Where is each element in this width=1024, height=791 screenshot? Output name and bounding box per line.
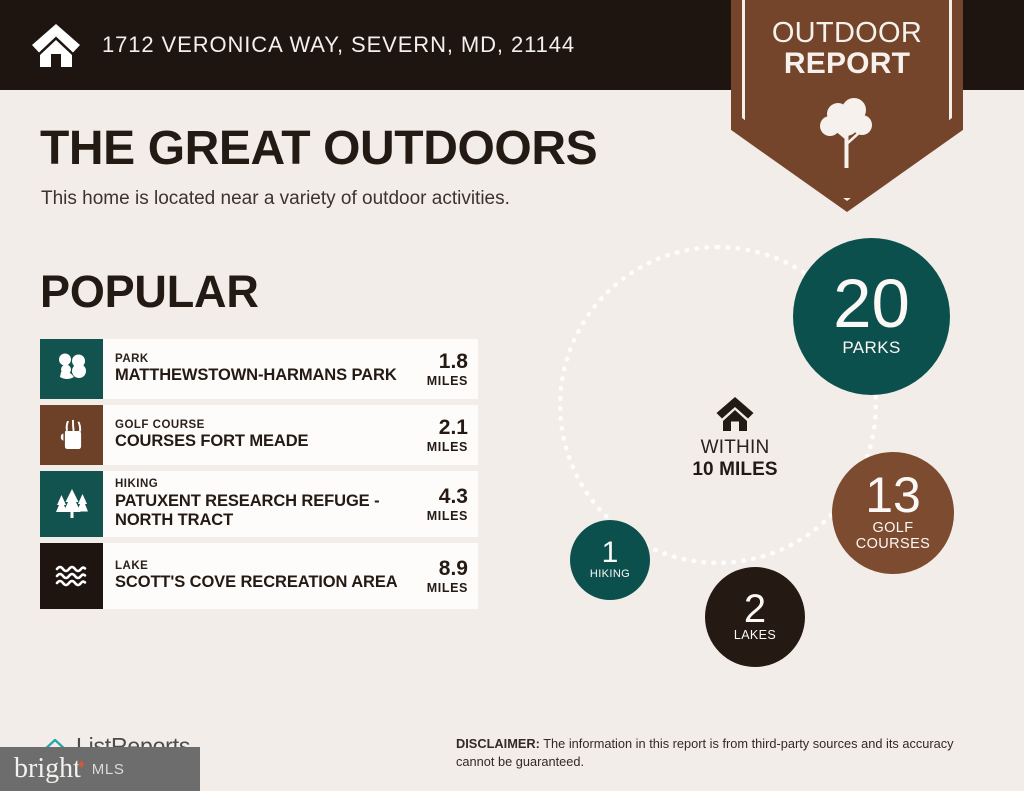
section-heading-popular: POPULAR [40,266,259,318]
bubble-golf-courses: 13 GOLF COURSES [832,452,954,574]
list-item-category: PARK [115,352,404,366]
waves-icon [40,543,103,609]
distance-value: 4.3 [439,486,468,507]
list-item-category: HIKING [115,477,404,491]
list-item-name: COURSES FORT MEADE [115,432,404,451]
list-item-name: MATTHEWSTOWN-HARMANS PARK [115,366,404,385]
bubble-value: 20 [833,272,910,335]
chart-center-label: WITHIN 10 MILES [665,395,805,481]
list-item-text: GOLF COURSE COURSES FORT MEADE [103,405,408,465]
distance-unit: MILES [427,581,468,595]
distance-value: 1.8 [439,351,468,372]
distance-unit: MILES [427,374,468,388]
bubble-value: 13 [865,472,921,518]
distance-value: 8.9 [439,558,468,579]
list-item[interactable]: HIKING PATUXENT RESEARCH REFUGE - NORTH … [40,471,478,537]
list-item-category: GOLF COURSE [115,418,404,432]
center-label-line-2: 10 MILES [665,459,805,481]
list-item-name: SCOTT'S COVE RECREATION AREA [115,573,404,592]
bubble-label: HIKING [590,569,630,580]
list-item-distance: 1.8 MILES [408,339,478,399]
park-trees-icon [40,339,103,399]
bubble-value: 1 [602,539,619,567]
list-item-distance: 8.9 MILES [408,543,478,609]
mls-star-icon: ✦ [76,757,87,773]
distance-value: 2.1 [439,417,468,438]
list-item-distance: 2.1 MILES [408,405,478,465]
amenities-bubble-chart: 20 PARKS 13 GOLF COURSES 2 LAKES 1 HIKIN… [530,225,1000,685]
bubble-label: GOLF COURSES [856,521,931,551]
list-item-name: PATUXENT RESEARCH REFUGE - NORTH TRACT [115,492,404,530]
bubble-label: LAKES [734,629,776,642]
golf-bag-icon [40,405,103,465]
badge-text: OUTDOOR REPORT [731,18,963,79]
bubble-value: 2 [744,591,766,628]
house-icon [665,395,805,433]
list-item-category: LAKE [115,559,404,573]
list-item[interactable]: GOLF COURSE COURSES FORT MEADE 2.1 MILES [40,405,478,465]
outdoor-report-badge: OUTDOOR REPORT [731,0,963,212]
page-subtitle: This home is located near a variety of o… [41,188,510,210]
property-address: 1712 VERONICA WAY, SEVERN, MD, 21144 [102,32,575,58]
popular-list: PARK MATTHEWSTOWN-HARMANS PARK 1.8 MILES… [40,339,478,615]
disclaimer: DISCLAIMER: The information in this repo… [456,735,986,771]
center-label-line-1: WITHIN [665,437,805,459]
bubble-lakes: 2 LAKES [705,567,805,667]
badge-line-2: REPORT [731,48,963,79]
mls-brand-text: bright [14,755,81,783]
disclaimer-label: DISCLAIMER: [456,736,540,751]
list-item-text: PARK MATTHEWSTOWN-HARMANS PARK [103,339,408,399]
page-title: THE GREAT OUTDOORS [40,121,597,176]
bright-mls-watermark: bright ✦ MLS [0,747,200,791]
house-icon [28,17,84,73]
badge-line-1: OUTDOOR [731,18,963,48]
list-item-distance: 4.3 MILES [408,471,478,537]
mls-suffix-text: MLS [92,761,125,778]
tree-icon [731,96,963,170]
list-item[interactable]: LAKE SCOTT'S COVE RECREATION AREA 8.9 MI… [40,543,478,609]
bubble-label: PARKS [842,339,900,357]
list-item-text: HIKING PATUXENT RESEARCH REFUGE - NORTH … [103,471,408,537]
bubble-label-line-2: COURSES [856,537,931,552]
distance-unit: MILES [427,440,468,454]
bubble-hiking: 1 HIKING [570,520,650,600]
list-item[interactable]: PARK MATTHEWSTOWN-HARMANS PARK 1.8 MILES [40,339,478,399]
list-item-text: LAKE SCOTT'S COVE RECREATION AREA [103,543,408,609]
pine-trees-icon [40,471,103,537]
distance-unit: MILES [427,509,468,523]
bubble-label-line-1: GOLF [856,521,931,536]
bubble-parks: 20 PARKS [793,238,950,395]
